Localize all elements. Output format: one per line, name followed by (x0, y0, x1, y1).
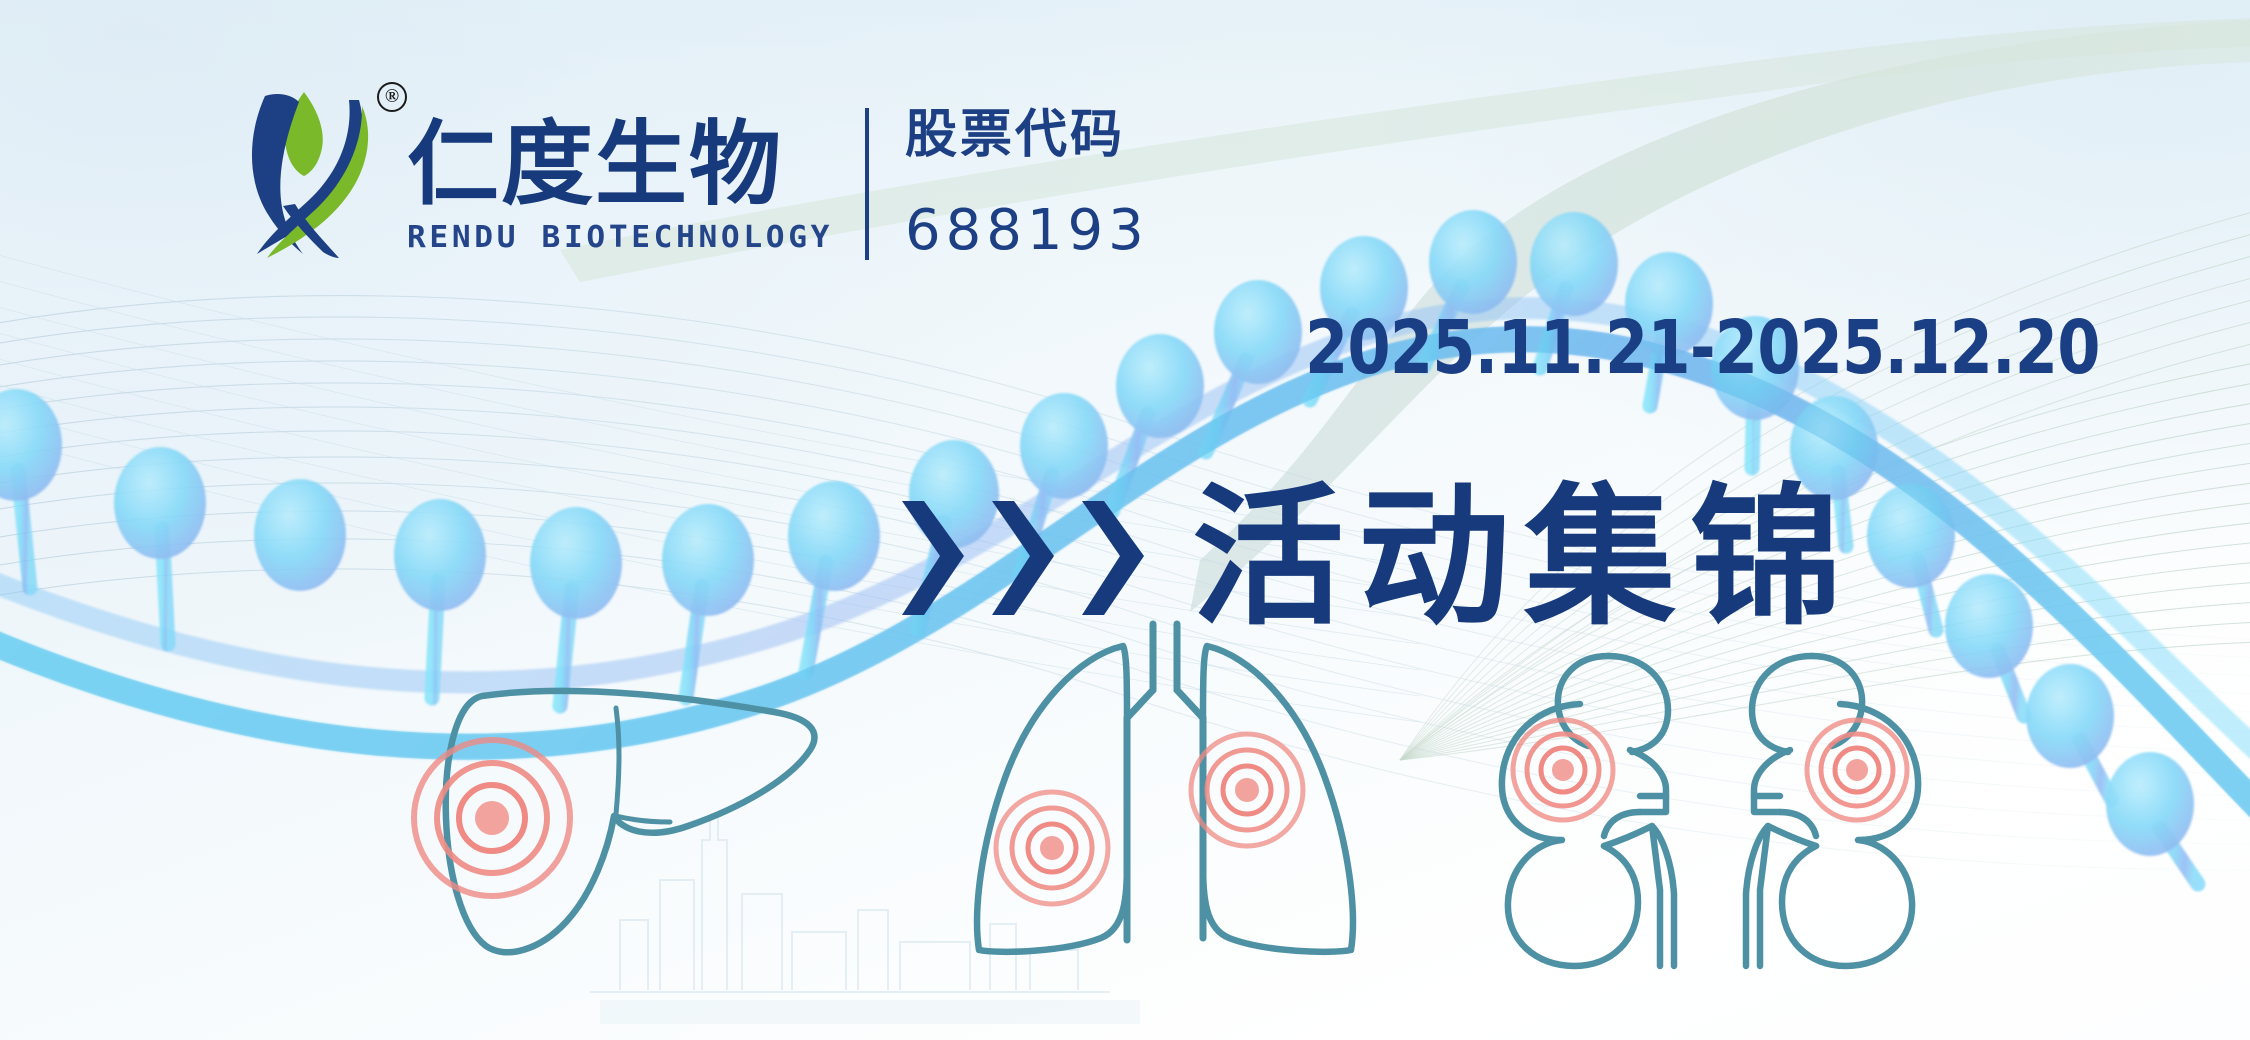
date-range-text: 2025.11.21-2025.12.20 (1305, 308, 2100, 388)
stock-code-label: 股票代码 (905, 108, 1149, 162)
title-text: 活动集锦 (1192, 478, 1856, 638)
kidney-marker-left (1513, 720, 1613, 820)
lung-marker-left (996, 792, 1108, 904)
company-name-cn: 仁度生物 (407, 118, 817, 212)
main-title: 活动集锦 (900, 478, 1856, 638)
liver-illustration (370, 660, 850, 980)
liver-marker (414, 740, 570, 896)
promotional-banner: ® 仁度生物 RENDU BIOTECHNOLOGY 股票代码 688193 2… (0, 0, 2250, 1040)
registered-trademark-icon: ® (377, 82, 407, 112)
vertical-divider (865, 108, 869, 260)
kidneys-illustration (1480, 650, 1940, 980)
stock-info: 股票代码 688193 (865, 108, 1149, 260)
rendu-logo-mark-icon: ® (225, 78, 385, 258)
stock-code-value: 688193 (905, 202, 1149, 260)
lungs-illustration (955, 620, 1375, 980)
chevron-right-icon-1 (900, 499, 966, 617)
kidney-marker-right (1807, 720, 1907, 820)
company-name-en: RENDU BIOTECHNOLOGY (407, 222, 833, 254)
brand-logo: ® 仁度生物 RENDU BIOTECHNOLOGY (225, 78, 817, 258)
chevron-right-icon-2 (990, 499, 1056, 617)
lung-marker-right (1191, 734, 1303, 846)
chevron-right-icon-3 (1080, 499, 1146, 617)
